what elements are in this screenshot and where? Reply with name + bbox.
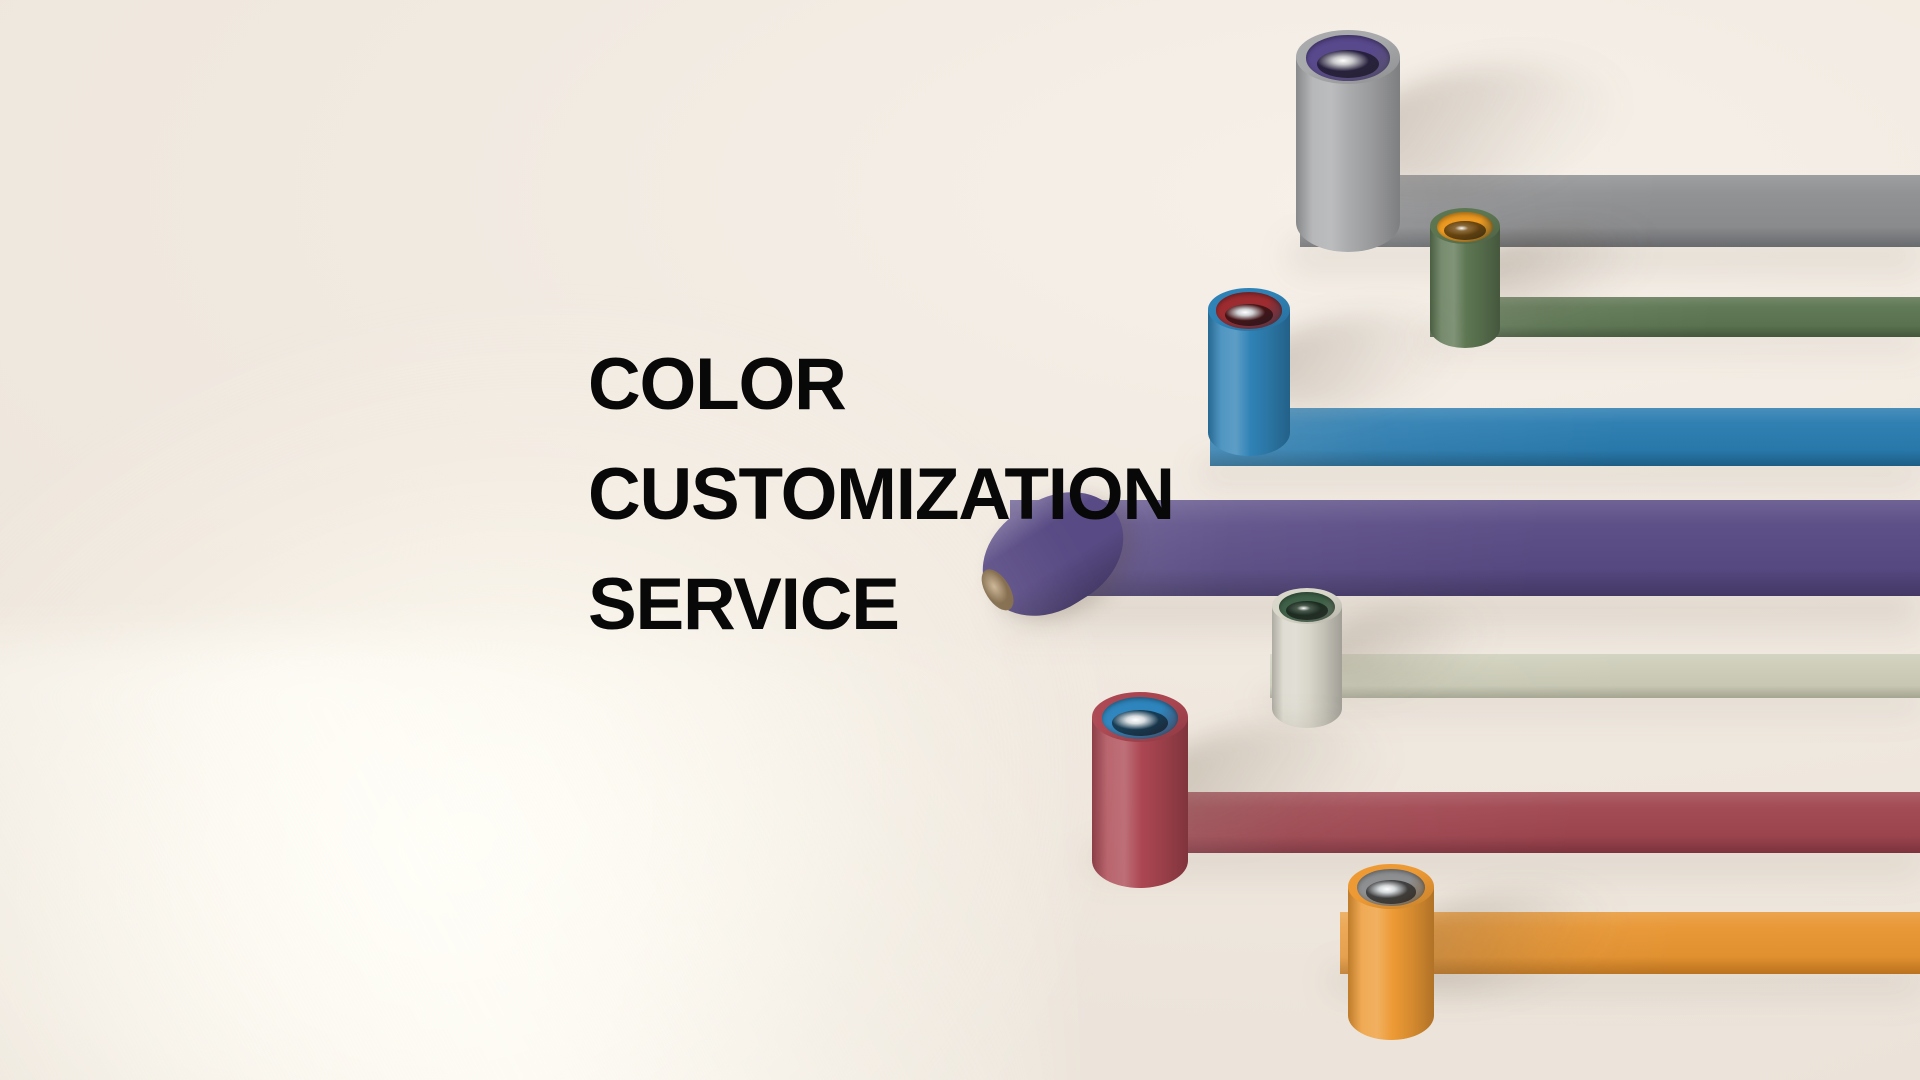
roll-outer-wall bbox=[1430, 226, 1500, 348]
ribbon-green bbox=[1430, 297, 1920, 337]
headline-line-2: CUSTOMIZATION bbox=[588, 440, 1348, 550]
page-title: COLOR CUSTOMIZATION SERVICE bbox=[588, 330, 1348, 660]
roll-wall-shading bbox=[1430, 226, 1500, 348]
roll-wall-shading bbox=[1296, 57, 1400, 252]
roll-outer-wall bbox=[1348, 887, 1434, 1040]
roll-outer-wall bbox=[1092, 717, 1188, 888]
roll-core-material bbox=[1366, 880, 1417, 903]
hero-canvas: COLOR CUSTOMIZATION SERVICE bbox=[0, 0, 1920, 1080]
roll-core-material bbox=[1444, 221, 1485, 240]
roll-green-roll-orange-core bbox=[1430, 208, 1500, 348]
headline-line-1: COLOR bbox=[588, 330, 1348, 440]
roll-outer-wall bbox=[1296, 57, 1400, 252]
headline-line-3: SERVICE bbox=[588, 550, 1348, 660]
roll-orange-roll-gray-core bbox=[1348, 864, 1434, 1040]
roll-wall-shading bbox=[1348, 887, 1434, 1040]
roll-core-material bbox=[1225, 304, 1274, 326]
ribbon-beige bbox=[1270, 654, 1920, 698]
roll-gray-roll-purple-core bbox=[1296, 30, 1400, 252]
roll-wall-shading bbox=[1092, 717, 1188, 888]
roll-red-roll-blue-core bbox=[1092, 692, 1188, 888]
roll-core-material bbox=[1317, 50, 1379, 78]
ribbon-red bbox=[1100, 792, 1920, 853]
